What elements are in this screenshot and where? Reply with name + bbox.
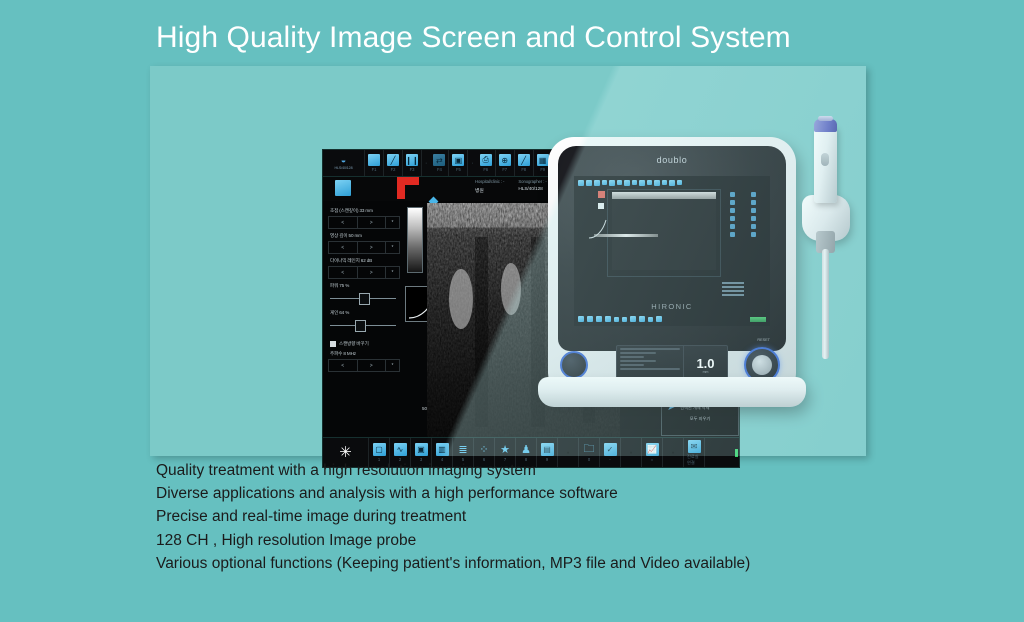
mini-bottom-toolbar <box>574 312 770 326</box>
bullet-item: Various optional functions (Keeping pati… <box>156 552 856 575</box>
depth-scale-label: 50 <box>422 406 427 411</box>
stepper-reset[interactable]: * <box>386 267 399 278</box>
mini-tgc-curve-icon <box>587 218 609 240</box>
toolbar-button-f1[interactable]: F1 <box>365 150 384 176</box>
stepper-prev[interactable]: < <box>329 242 358 253</box>
gain-slider[interactable] <box>328 319 400 333</box>
probe-icon: ◒ <box>341 156 346 165</box>
person-icon: ♟ <box>520 443 533 456</box>
mini-list-row <box>722 286 744 288</box>
zoom-icon: ⊕ <box>499 154 511 166</box>
mini-icon[interactable] <box>578 180 584 186</box>
feature-bullet-list: Quality treatment with a high resolution… <box>156 459 856 575</box>
square-blue-icon <box>368 154 380 166</box>
mini-tool-icon[interactable] <box>751 208 756 213</box>
power-slider[interactable] <box>328 292 400 306</box>
mini-icon[interactable] <box>624 180 630 186</box>
device-body: doublo <box>548 137 796 395</box>
folder-icon: 🗀 <box>583 443 596 456</box>
probe-cap <box>818 116 833 121</box>
histogram-icon: ▥ <box>436 443 449 456</box>
fkey-label: F4 <box>437 167 442 172</box>
stepper-reset[interactable]: * <box>386 217 399 228</box>
mini-tool-icon[interactable] <box>730 224 735 229</box>
frame-icon: ▣ <box>452 154 464 166</box>
fkey-label: F5 <box>456 167 461 172</box>
mini-list-row <box>722 294 744 296</box>
toolbar-separator: · <box>422 150 430 176</box>
check-icon: ✓ <box>604 443 617 456</box>
dynamic-range-stepper[interactable]: < > * <box>328 266 400 279</box>
stepper-next[interactable]: > <box>358 267 387 278</box>
probe-logo: ◒ HLS/40/128 <box>323 150 365 176</box>
mini-result-list <box>722 282 764 298</box>
doublo-device: doublo <box>548 137 818 409</box>
mini-tool-icon[interactable] <box>751 200 756 205</box>
checkbox-label: 스캔방향 바꾸기 <box>339 341 369 347</box>
freeze-icon: ▢ <box>373 443 386 456</box>
dots-icon: ⁘ <box>478 443 491 456</box>
control-label-dynamic-range: 다이나믹 레인지 62 dB <box>330 258 400 264</box>
mini-icon[interactable] <box>656 316 662 322</box>
led-indicator <box>735 449 738 457</box>
depth-stepper[interactable]: < > * <box>328 241 400 254</box>
grayscale-bar <box>407 207 423 273</box>
checkbox-box[interactable] <box>330 341 336 347</box>
mini-status-badge <box>750 317 766 322</box>
handpiece-probe <box>800 111 860 361</box>
stepper-reset[interactable]: * <box>386 242 399 253</box>
knob-cap <box>752 355 772 375</box>
focus-stepper[interactable]: < > * <box>328 216 400 229</box>
flip-direction-checkbox[interactable]: 스캔방향 바꾸기 <box>330 341 400 347</box>
printer-icon: ⎙ <box>480 154 492 166</box>
mini-icon[interactable] <box>605 316 611 322</box>
toolbar-button-f4[interactable]: ⇄ F4 <box>430 150 449 176</box>
mini-measure-panel <box>722 192 764 278</box>
mini-tool-row <box>722 216 764 221</box>
mini-icon[interactable] <box>617 180 622 185</box>
product-photo-panel: ◒ HLS/40/128 F1 ╱ F2 ❙❙ F3 · ⇄ <box>150 66 866 456</box>
mini-tool-row <box>722 200 764 205</box>
toolbar-button-f6[interactable]: ⎙ F6 <box>477 150 496 176</box>
mini-icon[interactable] <box>594 180 600 186</box>
mini-icon[interactable] <box>586 180 592 186</box>
mini-icon[interactable] <box>578 316 584 322</box>
energy-number: 1.0 <box>696 357 714 370</box>
toolbar-button-f8[interactable]: ╱ F8 <box>515 150 534 176</box>
stepper-prev[interactable]: < <box>329 267 358 278</box>
toolbar-button-f2[interactable]: ╱ F2 <box>384 150 403 176</box>
mini-tool-row <box>722 232 764 237</box>
mini-tool-icon[interactable] <box>730 200 735 205</box>
info-line <box>620 364 644 366</box>
device-base <box>538 377 806 407</box>
mini-icon[interactable] <box>639 180 645 186</box>
control-label-focus: 초점 (스캔깊이) 33 mm <box>330 208 400 214</box>
control-label-power: 파워 75 % <box>330 283 400 289</box>
bullet-item: 128 CH , High resolution Image probe <box>156 529 856 552</box>
fkey-label: F2 <box>391 167 396 172</box>
mini-tool-icon[interactable] <box>751 192 756 197</box>
stepper-next[interactable]: > <box>358 217 387 228</box>
device-brand: doublo <box>558 155 786 165</box>
record-indicator-icon <box>397 177 419 199</box>
mini-record-icon <box>598 191 605 198</box>
mini-tool-icon[interactable] <box>751 216 756 221</box>
reset-knob-label: RESET <box>757 338 770 342</box>
mini-icon[interactable] <box>614 317 619 322</box>
stepper-prev[interactable]: < <box>329 360 358 371</box>
asterisk-icon: ✳ <box>339 445 352 460</box>
fkey-label: F6 <box>483 167 488 172</box>
mode-indicator-icon <box>335 180 351 196</box>
header-field-hospital: Hospital/clinic : - 병원 <box>475 179 504 194</box>
refresh-icon: ⇄ <box>433 154 445 166</box>
mini-tool-row <box>722 192 764 197</box>
toolbar-button-f3[interactable]: ❙❙ F3 <box>403 150 422 176</box>
frequency-stepper[interactable]: < > * <box>328 359 400 372</box>
mini-icon[interactable] <box>630 316 636 322</box>
info-line <box>620 368 680 370</box>
mini-icon[interactable] <box>662 180 667 185</box>
info-line <box>620 360 656 362</box>
mini-tool-row <box>722 208 764 213</box>
mini-icon[interactable] <box>639 316 645 322</box>
device-screen: doublo <box>558 146 786 351</box>
mini-list-row <box>722 282 744 284</box>
info-line <box>620 348 680 350</box>
mini-tool-icon[interactable] <box>730 208 735 213</box>
mini-icon[interactable] <box>596 316 602 322</box>
mini-toolbar <box>574 176 770 189</box>
slider-knob[interactable] <box>355 320 366 332</box>
mini-tool-icon[interactable] <box>730 192 735 197</box>
mini-tissue-band <box>612 192 716 199</box>
fkey-label: F1 <box>372 167 377 172</box>
frame-icon: ▣ <box>415 443 428 456</box>
toolbar-button-f5[interactable]: ▣ F5 <box>449 150 468 176</box>
probe-model-label: HLS/40/128 <box>335 166 353 170</box>
mini-tool-icon[interactable] <box>730 216 735 221</box>
slider-knob[interactable] <box>359 293 370 305</box>
control-label-frequency: 주파수 8 MHz <box>330 351 400 357</box>
probe-button[interactable] <box>821 153 829 166</box>
slash-blue-icon: ╱ <box>387 154 399 166</box>
save-icon: ▤ <box>541 443 554 456</box>
page-title: High Quality Image Screen and Control Sy… <box>156 21 791 55</box>
waveform-icon: ∿ <box>394 443 407 456</box>
mini-icon[interactable] <box>622 317 627 322</box>
pause-bars-icon: ❙❙ <box>406 154 418 166</box>
mini-icon[interactable] <box>632 180 637 185</box>
mini-tool-row <box>722 224 764 229</box>
mini-ultrasound-image <box>612 192 716 270</box>
mini-icon[interactable] <box>602 180 607 185</box>
probe-cable <box>822 249 829 359</box>
info-line <box>620 356 644 358</box>
toolbar-button-f7[interactable]: ⊕ F7 <box>496 150 515 176</box>
mini-tool-icon[interactable] <box>751 232 756 237</box>
mini-icon[interactable] <box>669 180 675 186</box>
fkey-label: F3 <box>410 167 415 172</box>
mini-icon[interactable] <box>609 180 615 186</box>
energy-unit: mm <box>703 370 709 374</box>
stepper-next[interactable]: > <box>358 360 387 371</box>
mail-icon: ✉ <box>688 440 701 453</box>
mini-icon[interactable] <box>654 180 660 186</box>
toolbar-separator: · <box>468 150 476 176</box>
fkey-label: F8 <box>521 167 526 172</box>
mini-icon[interactable] <box>677 180 682 185</box>
mini-mode-icon <box>598 203 604 209</box>
slide-root: High Quality Image Screen and Control Sy… <box>0 0 1024 622</box>
scan-controls-panel: 초점 (스캔깊이) 33 mm < > * 영상 깊이 50 mm < > * … <box>325 202 403 467</box>
fkey-label: F9 <box>540 167 545 172</box>
star-icon: ★ <box>499 443 512 456</box>
mini-tool-icon[interactable] <box>730 232 735 237</box>
stepper-prev[interactable]: < <box>329 217 358 228</box>
line-measure-icon: ╱ <box>518 154 530 166</box>
bullet-item: Diverse applications and analysis with a… <box>156 482 856 505</box>
chart-icon: 📈 <box>646 443 659 456</box>
stepper-next[interactable]: > <box>358 242 387 253</box>
info-line <box>620 352 656 354</box>
bullet-item: Quality treatment with a high resolution… <box>156 459 856 482</box>
calculator-icon: ▦ <box>537 154 549 166</box>
clear-all-button[interactable]: 모두 지우기 <box>664 416 736 422</box>
bullet-item: Precise and real-time image during treat… <box>156 505 856 528</box>
device-maker: HIRONIC <box>558 302 786 311</box>
stepper-reset[interactable]: * <box>386 360 399 371</box>
mini-icon[interactable] <box>648 317 653 322</box>
fkey-label: F7 <box>502 167 507 172</box>
align-icon: ≣ <box>457 443 470 456</box>
mini-icon[interactable] <box>587 316 593 322</box>
mini-icon[interactable] <box>647 180 652 185</box>
control-label-depth: 영상 깊이 50 mm <box>330 233 400 239</box>
mini-tool-icon[interactable] <box>751 224 756 229</box>
mini-list-row <box>722 290 744 292</box>
left-knob[interactable] <box>560 351 588 379</box>
header-field-sonographer: Sonographer : - HLS/40/128 <box>518 179 546 194</box>
control-label-gain: 게인 64 % <box>330 310 400 316</box>
